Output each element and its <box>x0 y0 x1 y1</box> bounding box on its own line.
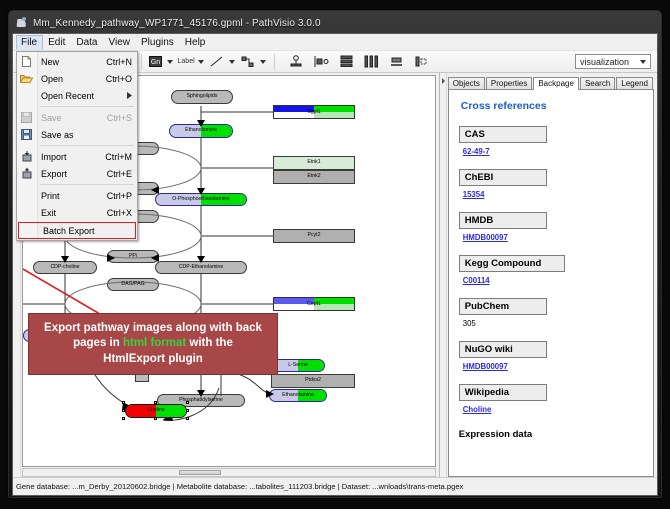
pane-collapse-icon <box>440 76 447 88</box>
xref-pubchem: PubChem 305 <box>459 298 645 341</box>
xref-kegg-compound: Kegg Compound C00114 <box>459 255 645 298</box>
visualization-value: visualization <box>580 57 629 67</box>
backpage-panel: Cross references CAS 62-49-7 ChEBI 15354… <box>448 90 654 477</box>
xref-wikipedia: Wikipedia Choline <box>459 384 645 427</box>
connector-button[interactable] <box>240 53 257 70</box>
selection-handle[interactable] <box>122 409 125 412</box>
menu-file[interactable]: File <box>16 35 43 50</box>
svg-text:Gn: Gn <box>150 59 159 66</box>
file-menu-label-import: Import <box>41 152 105 162</box>
xref-value-pubchem: 305 <box>463 319 476 328</box>
application-window: Mm_Kennedy_pathway_WP1771_45176.gpml - P… <box>8 10 662 498</box>
file-menu-label-batch-export: Batch Export <box>43 226 135 236</box>
annotation-callout: Export pathway images along with back pa… <box>28 313 278 375</box>
xref-label-chebi: ChEBI <box>459 169 547 186</box>
file-menu-item-save-as[interactable]: Save as <box>17 126 137 143</box>
file-menu-shortcut-exit: Ctrl+X <box>107 208 132 218</box>
expression-data-heading: Expression data <box>459 429 645 440</box>
align-left-icon[interactable] <box>313 53 330 70</box>
selection-handle[interactable] <box>186 417 189 420</box>
xref-cas: CAS 62-49-7 <box>459 126 645 169</box>
side-panel-rail <box>440 73 447 477</box>
menu-view[interactable]: View <box>103 35 136 50</box>
selection-handle[interactable] <box>186 401 189 404</box>
menu-bar: File Edit Data View Plugins Help <box>13 34 657 51</box>
side-panel: Objects Properties Backpage Search Legen… <box>440 73 657 477</box>
tab-properties[interactable]: Properties <box>486 77 532 89</box>
connector-dropdown-arrow[interactable] <box>260 60 266 64</box>
file-menu-item-open-recent[interactable]: Open Recent <box>17 87 137 104</box>
backpage-title: Cross references <box>461 100 645 112</box>
file-menu-item-new[interactable]: New Ctrl+N <box>17 53 137 70</box>
xref-label-kegg-compound: Kegg Compound <box>459 255 565 272</box>
xref-value-chebi[interactable]: 15354 <box>463 190 485 199</box>
file-menu-shortcut-open: Ctrl+O <box>106 74 132 84</box>
xref-value-hmdb[interactable]: HMDB00097 <box>463 233 508 242</box>
label-dropdown-arrow[interactable] <box>198 60 204 64</box>
tab-backpage[interactable]: Backpage <box>533 77 579 90</box>
chevron-down-icon <box>640 60 646 64</box>
import-icon <box>22 151 32 164</box>
menu-separator <box>40 145 134 146</box>
tab-objects[interactable]: Objects <box>448 77 485 89</box>
canvas-hscrollbar[interactable] <box>22 468 436 477</box>
save-as-icon <box>21 129 32 142</box>
visualization-select[interactable]: visualization <box>575 54 651 69</box>
xref-value-nugo-wiki[interactable]: HMDB00097 <box>463 362 508 371</box>
new-document-icon <box>21 56 32 69</box>
file-menu-label-export: Export <box>41 169 107 179</box>
status-bar: Gene database: ...m_Derby_20120602.bridg… <box>13 477 657 495</box>
submenu-arrow-icon <box>127 91 132 101</box>
window-title: Mm_Kennedy_pathway_WP1771_45176.gpml - P… <box>33 18 321 29</box>
menu-data[interactable]: Data <box>71 35 103 50</box>
xref-chebi: ChEBI 15354 <box>459 169 645 212</box>
toolbar-separator <box>141 54 142 70</box>
selection-handle[interactable] <box>154 401 157 404</box>
selection-handle[interactable] <box>122 417 125 420</box>
file-menu-shortcut-import: Ctrl+M <box>105 152 132 162</box>
pathvisio-icon <box>16 17 28 29</box>
toolbar-separator <box>274 54 275 70</box>
file-menu-item-batch-export[interactable]: Batch Export <box>18 222 136 239</box>
line-button[interactable] <box>209 53 226 70</box>
xref-nugo-wiki: NuGO wiki HMDB00097 <box>459 341 645 384</box>
tab-legend[interactable]: Legend <box>616 77 653 89</box>
file-menu-label-open-recent: Open Recent <box>41 91 127 101</box>
xref-label-pubchem: PubChem <box>459 298 547 315</box>
callout-line2-post: with the <box>186 337 233 349</box>
file-menu-label-new: New <box>41 57 106 67</box>
file-menu-item-import[interactable]: Import Ctrl+M <box>17 148 137 165</box>
distribute-horizontal-icon[interactable] <box>363 53 380 70</box>
folder-open-icon <box>20 74 33 86</box>
file-menu-label-save: Save <box>41 113 107 123</box>
align-top-icon[interactable] <box>338 53 355 70</box>
xref-label-hmdb: HMDB <box>459 212 547 229</box>
datanode-button[interactable]: Gn <box>147 53 164 70</box>
menu-separator <box>40 184 134 185</box>
selection-handle[interactable] <box>154 417 157 420</box>
title-bar: Mm_Kennedy_pathway_WP1771_45176.gpml - P… <box>12 13 658 33</box>
xref-value-kegg-compound[interactable]: C00114 <box>463 276 490 285</box>
node-choline-selected[interactable]: Choline <box>125 404 187 418</box>
file-menu-shortcut-print: Ctrl+P <box>107 191 132 201</box>
file-menu-label-save-as: Save as <box>41 130 132 140</box>
label-button[interactable]: Label <box>178 58 195 65</box>
side-panel-tabs: Objects Properties Backpage Search Legen… <box>448 75 654 90</box>
xref-value-wikipedia[interactable]: Choline <box>463 405 492 414</box>
file-menu-item-print[interactable]: Print Ctrl+P <box>17 187 137 204</box>
align-center-icon[interactable] <box>288 53 305 70</box>
selection-handle[interactable] <box>186 409 189 412</box>
file-menu-item-open[interactable]: Open Ctrl+O <box>17 70 137 87</box>
callout-line3: HtmlExport plugin <box>103 353 203 365</box>
callout-line2-highlight: html format <box>123 337 186 349</box>
file-menu-item-exit[interactable]: Exit Ctrl+X <box>17 204 137 221</box>
screenshot-root: Mm_Kennedy_pathway_WP1771_45176.gpml - P… <box>0 0 670 509</box>
file-menu-label-open: Open <box>41 74 106 84</box>
xref-hmdb: HMDB HMDB00097 <box>459 212 645 255</box>
node-choline-selected-wrap[interactable]: Choline <box>125 404 187 418</box>
file-menu-shortcut-new: Ctrl+N <box>106 57 132 67</box>
client-area: File Edit Data View Plugins Help Zoom: 1… <box>12 33 658 496</box>
file-menu-item-save: Save Ctrl+S <box>17 109 137 126</box>
xref-label-nugo-wiki: NuGO wiki <box>459 341 547 358</box>
xref-label-cas: CAS <box>459 126 547 143</box>
group-icon[interactable] <box>413 53 430 70</box>
datanode-dropdown-arrow[interactable] <box>167 60 173 64</box>
file-menu-shortcut-save: Ctrl+S <box>107 113 132 123</box>
xref-value-cas[interactable]: 62-49-7 <box>463 147 490 156</box>
menu-plugins[interactable]: Plugins <box>136 35 180 50</box>
canvas-hscroll-thumb[interactable] <box>179 470 220 475</box>
tab-search[interactable]: Search <box>580 77 615 89</box>
selection-handle[interactable] <box>122 401 125 404</box>
file-menu-label-print: Print <box>41 191 107 201</box>
export-icon <box>22 168 32 181</box>
menu-edit[interactable]: Edit <box>43 35 71 50</box>
callout-line1: Export pathway images along with back <box>44 322 262 334</box>
file-menu-label-exit: Exit <box>41 208 107 218</box>
menu-separator <box>40 106 134 107</box>
file-menu-popup[interactable]: New Ctrl+N Open Ctrl+O Open Recent <box>16 51 138 241</box>
stack-icon[interactable] <box>388 53 405 70</box>
xref-label-wikipedia: Wikipedia <box>459 384 547 401</box>
line-dropdown-arrow[interactable] <box>229 60 235 64</box>
menu-help[interactable]: Help <box>180 35 212 50</box>
file-menu-item-export[interactable]: Export Ctrl+E <box>17 165 137 182</box>
callout-line2-pre: pages in <box>73 337 123 349</box>
status-text: Gene database: ...m_Derby_20120602.bridg… <box>16 482 463 491</box>
save-icon <box>21 112 32 125</box>
file-menu-shortcut-export: Ctrl+E <box>107 169 132 179</box>
